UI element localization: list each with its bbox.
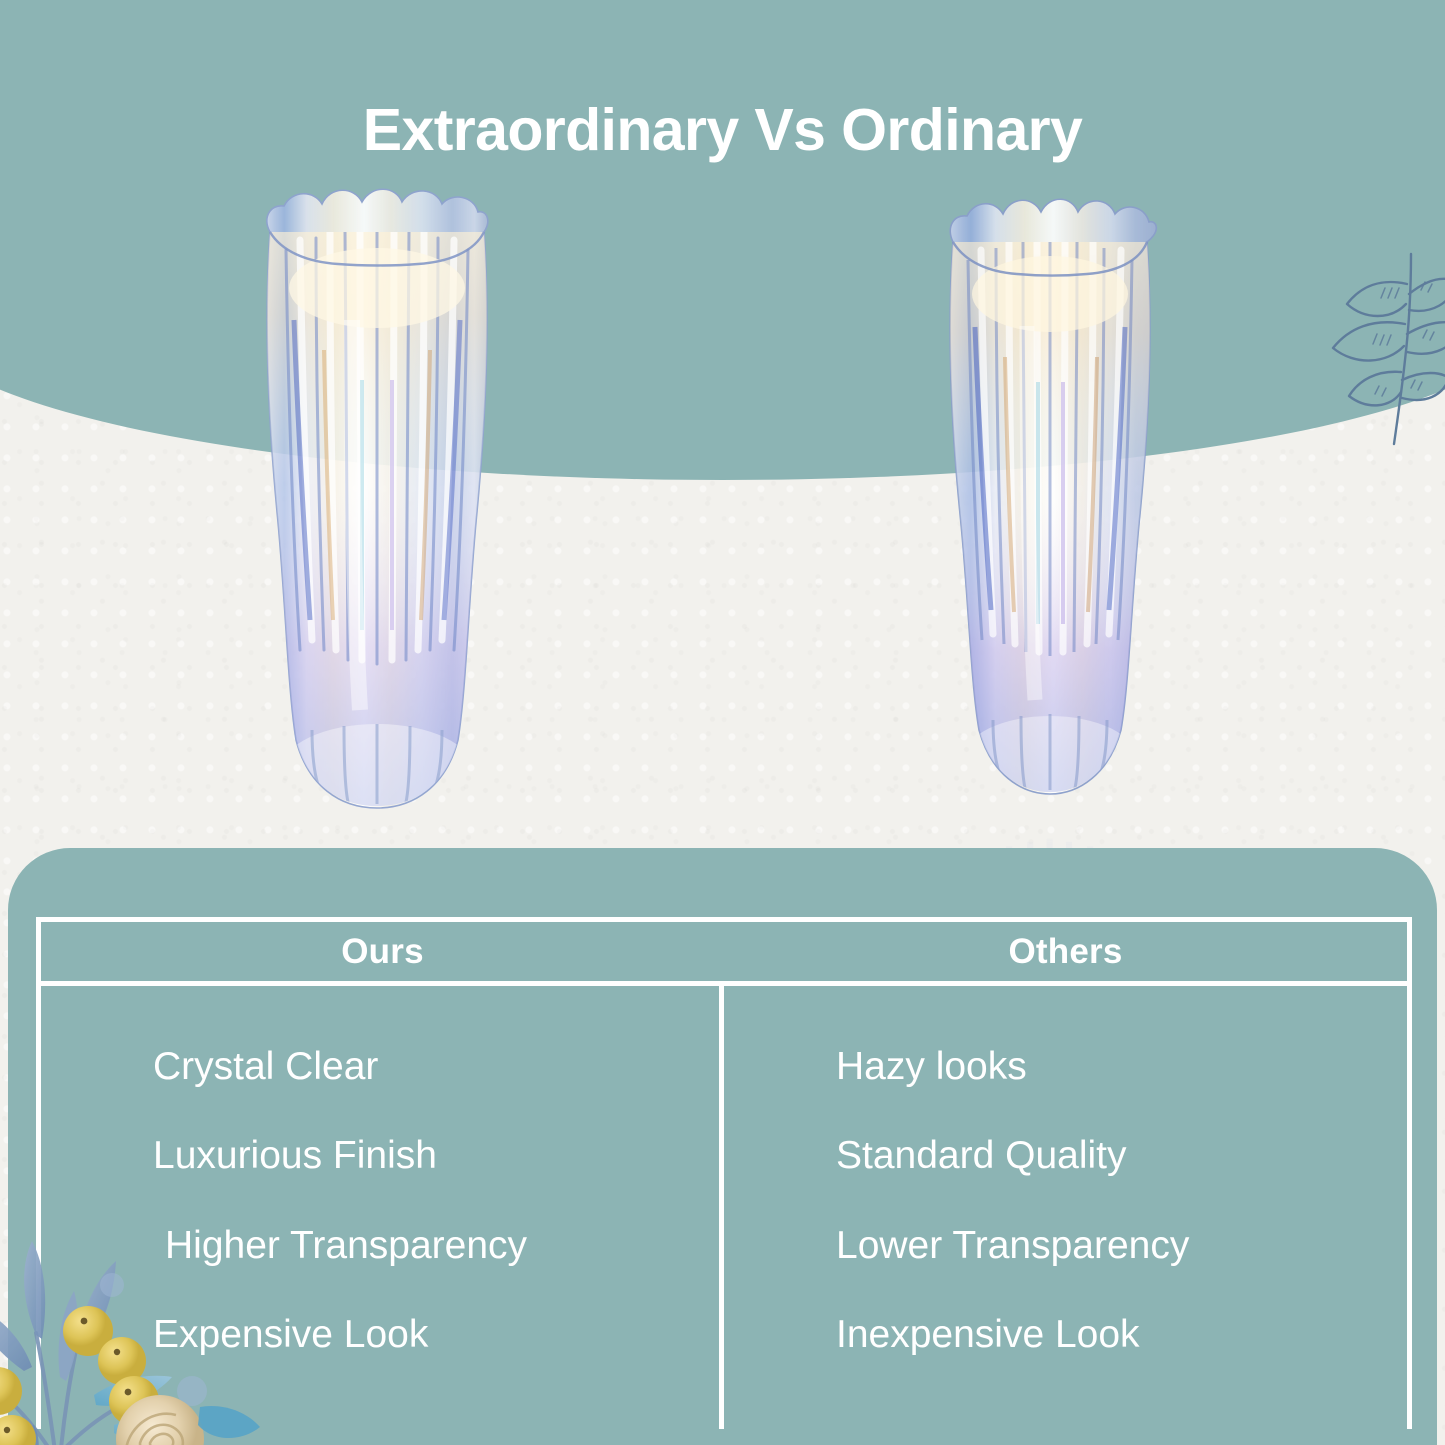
product-image-ours	[212, 170, 542, 830]
page-title: Extraordinary Vs Ordinary	[0, 96, 1445, 164]
infographic-root: Extraordinary Vs Ordinary	[0, 0, 1445, 1445]
product-image-others	[905, 182, 1195, 812]
column-header-others: Others	[724, 922, 1407, 981]
cell-others-4: Inexpensive Look	[724, 1314, 1407, 1357]
cell-ours-1: Crystal Clear	[41, 1046, 719, 1089]
cell-others-1: Hazy looks	[724, 1046, 1407, 1089]
watercolor-floral-decoration	[0, 1163, 294, 1445]
table-header-row: Ours Others	[41, 922, 1407, 986]
column-header-ours: Ours	[41, 922, 724, 981]
cell-others-2: Standard Quality	[724, 1135, 1407, 1178]
cell-others-3: Lower Transparency	[724, 1225, 1407, 1268]
column-others: Hazy looks Standard Quality Lower Transp…	[724, 986, 1407, 1429]
botanical-line-art	[1261, 248, 1445, 448]
